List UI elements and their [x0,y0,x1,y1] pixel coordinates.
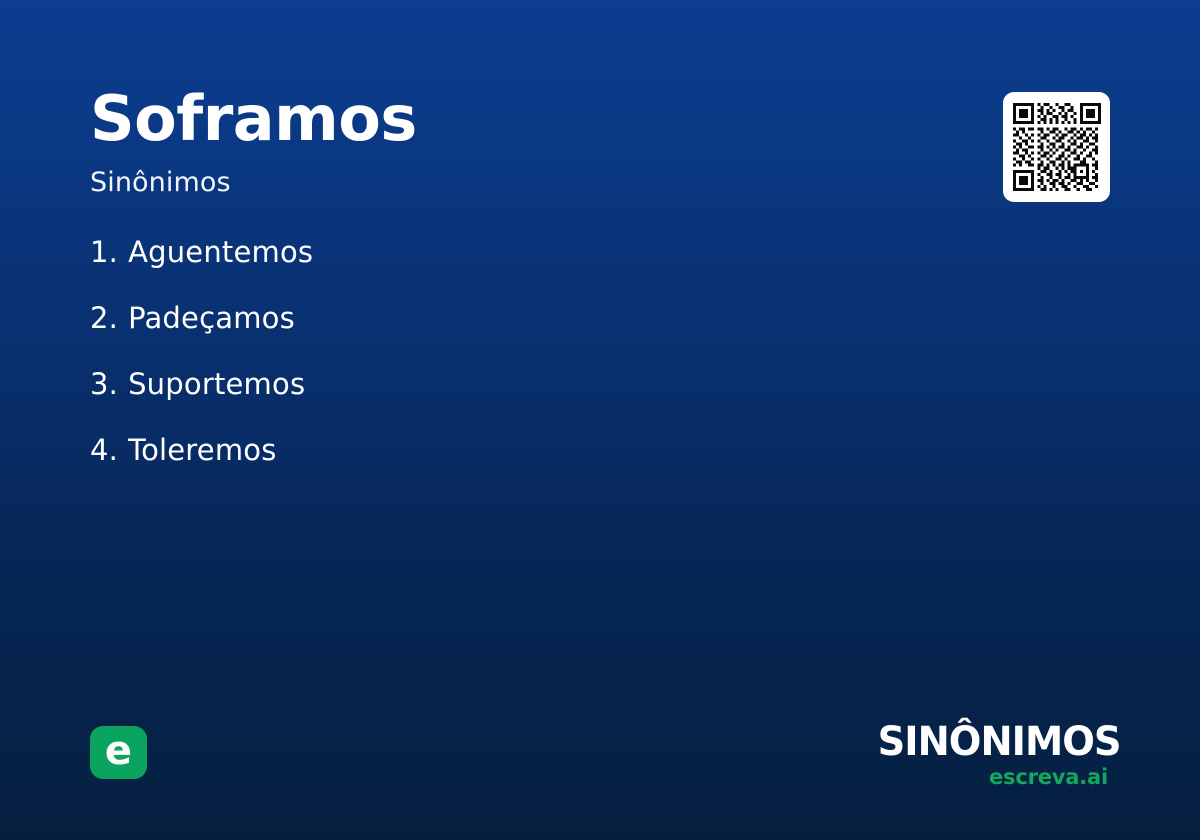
list-item-word: Suportemos [128,370,305,399]
qr-code-card[interactable] [1003,92,1110,202]
synonyms-list: 1. Aguentemos 2. Padeçamos 3. Suportemos… [90,238,850,502]
list-item-word: Aguentemos [128,238,313,267]
list-item: 4. Toleremos [90,436,850,502]
qr-code-icon [1013,103,1101,191]
list-item-index: 1. [90,238,118,267]
list-item: 2. Padeçamos [90,304,850,370]
list-item-index: 2. [90,304,118,333]
list-item: 1. Aguentemos [90,238,850,304]
synonym-card: Soframos Sinônimos 1. Aguentemos 2. Pade… [0,0,1200,840]
footer-logo-subtitle: escreva.ai [868,767,1108,788]
page-subtitle: Sinônimos [90,168,790,198]
list-item-word: Padeçamos [128,304,295,333]
header: Soframos Sinônimos [90,88,790,198]
footer-logo-title: SINÔNIMOS [878,722,1108,762]
footer-logo[interactable]: SINÔNIMOS escreva.ai [868,722,1108,788]
list-item-index: 4. [90,436,118,465]
escreva-e-logo-icon[interactable]: e [90,726,147,779]
badge-letter: e [105,731,132,771]
list-item: 3. Suportemos [90,370,850,436]
list-item-word: Toleremos [128,436,276,465]
list-item-index: 3. [90,370,118,399]
page-title: Soframos [90,88,790,150]
